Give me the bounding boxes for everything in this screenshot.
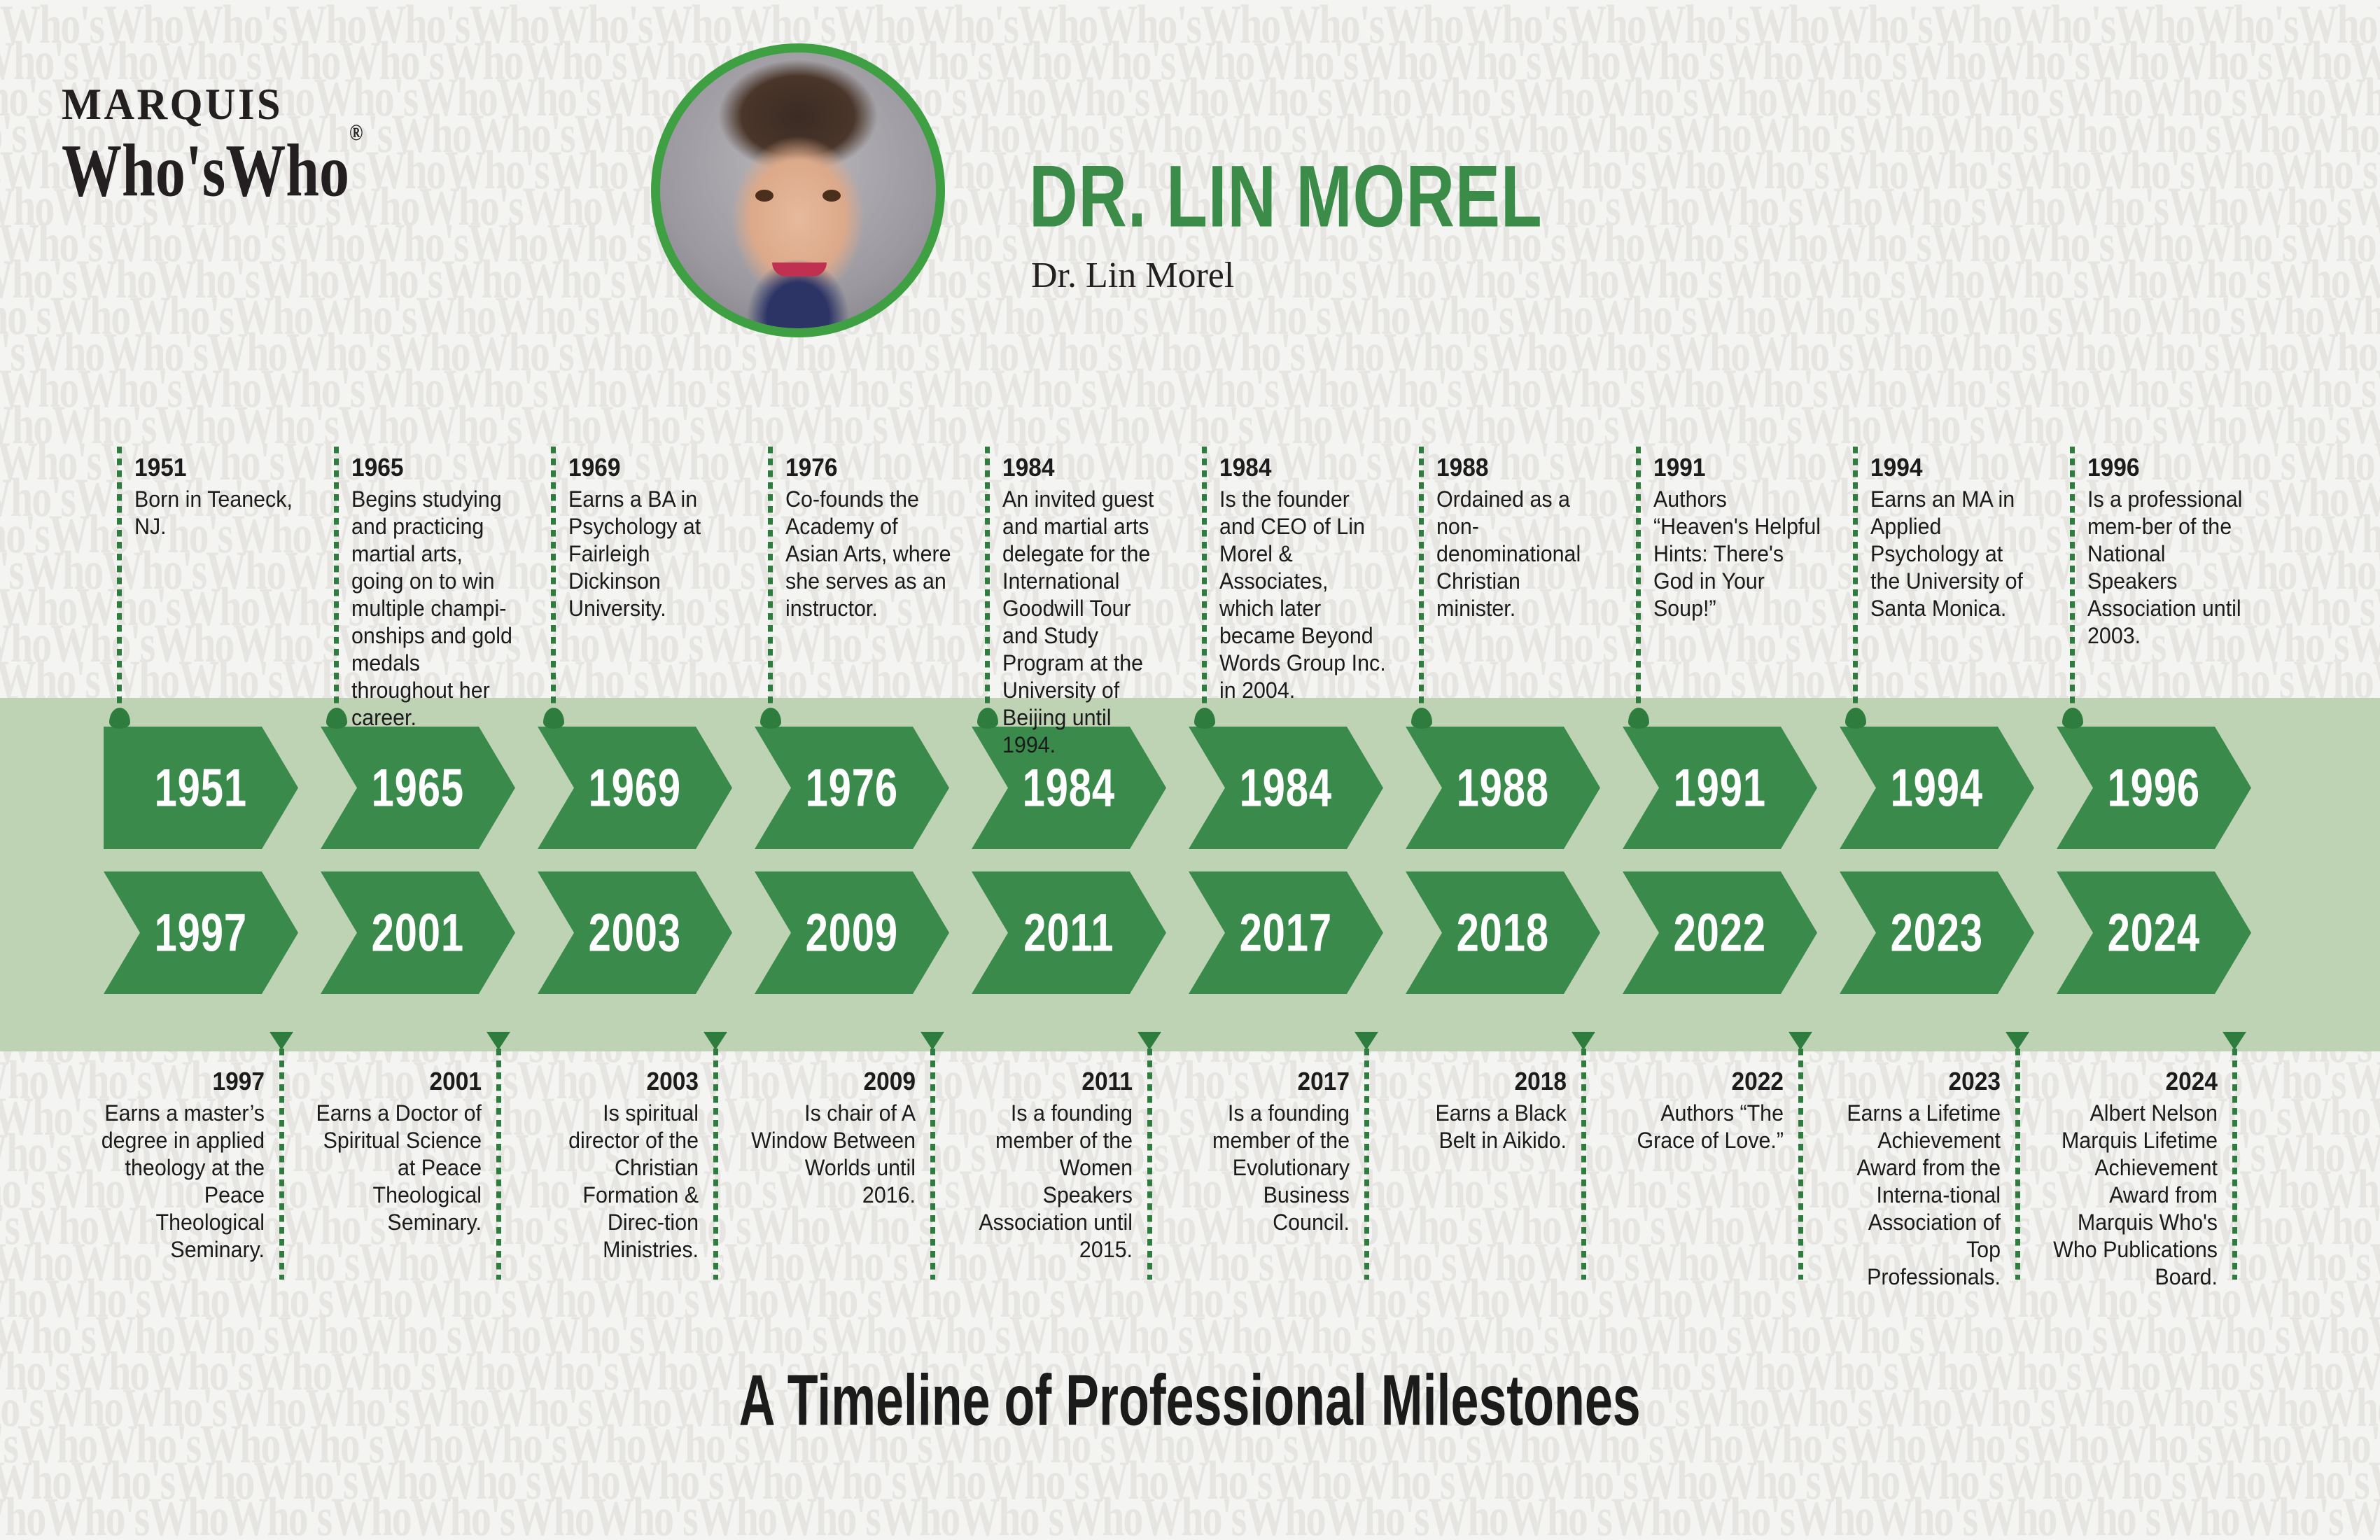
chevron-year-label: 1984 xyxy=(1023,762,1115,815)
milestone-2011-bottom: 2011Is a founding member of the Women Sp… xyxy=(956,1067,1133,1263)
chevron-year-label: 1991 xyxy=(1674,762,1766,815)
chevron-year-label: 1994 xyxy=(1891,762,1983,815)
milestone-year: 1997 xyxy=(101,1067,265,1095)
milestone-year: 2023 xyxy=(1837,1067,2001,1095)
connector-line-1988 xyxy=(1419,447,1424,717)
chevron-year-label: 1969 xyxy=(589,762,681,815)
connector-line-1994 xyxy=(1853,447,1858,717)
connector-line-2022 xyxy=(1798,1049,1803,1280)
connector-line-1976 xyxy=(768,447,773,717)
chevron-year-label: 2022 xyxy=(1674,906,1766,960)
milestone-1994-top: 1994Earns an MA in Applied Psychology at… xyxy=(1870,454,2047,622)
connector-arrow-2018 xyxy=(1571,1032,1595,1050)
milestone-1984-top: 1984Is the founder and CEO of Lin Morel … xyxy=(1219,454,1396,704)
chevron-year-label: 2023 xyxy=(1891,906,1983,960)
portrait-eye-right xyxy=(822,190,841,202)
connector-arrow-2023 xyxy=(2005,1032,2029,1050)
milestone-2024-bottom: 2024Albert Nelson Marquis Lifetime Achie… xyxy=(2041,1067,2218,1291)
connector-arrow-2001 xyxy=(486,1032,510,1050)
milestone-year: 2001 xyxy=(318,1067,482,1095)
connector-arrow-2024 xyxy=(2222,1032,2246,1050)
logo-line-whoswho: Who'sWho® xyxy=(62,126,363,207)
logo-line-marquis: MARQUIS xyxy=(62,83,399,125)
marquis-whoswho-logo: MARQUIS Who'sWho® xyxy=(62,83,363,191)
connector-line-2017 xyxy=(1364,1049,1369,1280)
milestone-text: Albert Nelson Marquis Lifetime Achieveme… xyxy=(2050,1100,2218,1291)
milestone-1969-top: 1969Earns a BA in Psychology at Fairleig… xyxy=(568,454,745,622)
milestone-text: Is chair of A Window Between Worlds unti… xyxy=(748,1100,916,1209)
milestone-text: Is spiritual director of the Christian F… xyxy=(531,1100,699,1263)
connector-arrow-2022 xyxy=(1788,1032,1812,1050)
milestone-text: Earns a BA in Psychology at Fairleigh Di… xyxy=(568,486,736,622)
milestone-year: 1994 xyxy=(1870,454,2034,482)
connector-line-2024 xyxy=(2232,1049,2237,1280)
connector-arrow-2003 xyxy=(703,1032,727,1050)
connector-line-2003 xyxy=(713,1049,718,1280)
milestone-year: 1988 xyxy=(1436,454,1600,482)
connector-line-1984 xyxy=(1202,447,1207,717)
milestone-year: 1976 xyxy=(785,454,949,482)
chevron-year-label: 1965 xyxy=(372,762,464,815)
registered-trademark-icon: ® xyxy=(349,120,363,145)
milestone-text: Authors “Heaven's Helpful Hints: There's… xyxy=(1653,486,1821,622)
portrait-mouth xyxy=(772,262,827,276)
connector-line-1951 xyxy=(117,447,122,717)
connector-line-2023 xyxy=(2015,1049,2020,1280)
chevron-year-label: 1951 xyxy=(155,762,247,815)
milestone-year: 2009 xyxy=(752,1067,916,1095)
connector-line-2018 xyxy=(1581,1049,1586,1280)
milestone-text: Earns an MA in Applied Psychology at the… xyxy=(1870,486,2038,622)
milestone-text: An invited guest and martial arts delega… xyxy=(1002,486,1170,759)
milestone-text: Earns a master’s degree in applied theol… xyxy=(97,1100,265,1263)
milestone-2023-bottom: 2023Earns a Lifetime Achievement Award f… xyxy=(1824,1067,2001,1291)
milestone-1965-top: 1965Begins studying and practicing marti… xyxy=(351,454,528,731)
milestone-year: 2011 xyxy=(969,1067,1133,1095)
milestone-text: Ordained as a non-denominational Christi… xyxy=(1436,486,1604,622)
footer-caption-text: A Timeline of Professional Milestones xyxy=(739,1364,1641,1436)
milestone-2001-bottom: 2001Earns a Doctor of Spiritual Science … xyxy=(305,1067,482,1236)
milestone-text: Born in Teaneck, NJ. xyxy=(134,486,302,540)
connector-line-1984 xyxy=(985,447,990,717)
milestone-year: 2022 xyxy=(1620,1067,1784,1095)
chevron-year-label: 1996 xyxy=(2108,762,2200,815)
milestone-year: 2024 xyxy=(2054,1067,2218,1095)
milestone-1951-top: 1951Born in Teaneck, NJ. xyxy=(134,454,311,540)
milestone-year: 1991 xyxy=(1653,454,1817,482)
connector-line-1969 xyxy=(551,447,556,717)
timeline-chevron-1951[interactable]: 1951 xyxy=(104,727,298,849)
milestone-text: Begins studying and practicing martial a… xyxy=(351,486,519,731)
connector-arrow-1997 xyxy=(269,1032,293,1050)
milestone-1976-top: 1976Co-founds the Academy of Asian Arts,… xyxy=(785,454,962,622)
milestone-1984-top: 1984An invited guest and martial arts de… xyxy=(1002,454,1179,759)
milestone-1997-bottom: 1997Earns a master’s degree in applied t… xyxy=(88,1067,265,1263)
footer-caption: A Timeline of Professional Milestones xyxy=(0,1368,2380,1433)
connector-arrow-2011 xyxy=(1137,1032,1161,1050)
chevron-year-label: 2024 xyxy=(2108,906,2200,960)
chevron-year-label: 2003 xyxy=(589,906,681,960)
connector-line-1997 xyxy=(279,1049,284,1280)
chevron-year-label: 2001 xyxy=(372,906,464,960)
chevron-year-label: 1997 xyxy=(155,906,247,960)
milestone-year: 1965 xyxy=(351,454,515,482)
chevron-year-label: 1984 xyxy=(1240,762,1332,815)
milestone-2009-bottom: 2009Is chair of A Window Between Worlds … xyxy=(739,1067,916,1209)
milestone-text: Earns a Black Belt in Aikido. xyxy=(1399,1100,1567,1154)
connector-line-1991 xyxy=(1636,447,1641,717)
connector-arrow-2017 xyxy=(1354,1032,1378,1050)
milestone-text: Earns a Doctor of Spiritual Science at P… xyxy=(314,1100,482,1236)
connector-arrow-2009 xyxy=(920,1032,944,1050)
connector-line-2001 xyxy=(496,1049,501,1280)
milestone-year: 2017 xyxy=(1186,1067,1350,1095)
milestone-year: 2003 xyxy=(535,1067,699,1095)
milestone-text: Is a professional mem-ber of the Nationa… xyxy=(2087,486,2255,650)
milestone-text: Is a founding member of the Evolutionary… xyxy=(1182,1100,1350,1236)
chevron-year-label: 2017 xyxy=(1240,906,1332,960)
milestone-year: 1984 xyxy=(1002,454,1166,482)
logo-whoswho-text: Who'sWho xyxy=(62,128,349,212)
connector-line-1996 xyxy=(2070,447,2075,717)
avatar xyxy=(651,43,945,337)
milestone-text: Authors “The Grace of Love.” xyxy=(1616,1100,1784,1154)
milestone-year: 1969 xyxy=(568,454,732,482)
milestone-text: Is a founding member of the Women Speake… xyxy=(965,1100,1133,1263)
chevron-year-label: 1988 xyxy=(1457,762,1549,815)
milestone-2017-bottom: 2017Is a founding member of the Evolutio… xyxy=(1173,1067,1350,1236)
chevron-year-label: 2011 xyxy=(1023,906,1114,960)
milestone-text: Earns a Lifetime Achievement Award from … xyxy=(1833,1100,2001,1291)
milestone-2022-bottom: 2022Authors “The Grace of Love.” xyxy=(1607,1067,1784,1154)
milestone-text: Is the founder and CEO of Lin Morel & As… xyxy=(1219,486,1387,704)
portrait-photo xyxy=(660,52,936,328)
milestone-text: Co-founds the Academy of Asian Arts, whe… xyxy=(785,486,953,622)
milestone-year: 1996 xyxy=(2087,454,2251,482)
connector-line-2011 xyxy=(1147,1049,1152,1280)
milestone-2018-bottom: 2018Earns a Black Belt in Aikido. xyxy=(1390,1067,1567,1154)
page-subtitle: Dr. Lin Morel xyxy=(1031,258,1234,294)
milestone-2003-bottom: 2003Is spiritual director of the Christi… xyxy=(522,1067,699,1263)
chevron-year-label: 1976 xyxy=(806,762,898,815)
milestone-1991-top: 1991Authors “Heaven's Helpful Hints: The… xyxy=(1653,454,1830,622)
portrait-eye-left xyxy=(755,190,773,202)
chevron-year-label: 2009 xyxy=(806,906,898,960)
milestone-year: 1984 xyxy=(1219,454,1383,482)
milestone-year: 1951 xyxy=(134,454,298,482)
milestone-1996-top: 1996Is a professional mem-ber of the Nat… xyxy=(2087,454,2264,650)
connector-line-1965 xyxy=(334,447,339,717)
chevron-year-label: 2018 xyxy=(1457,906,1549,960)
page-title: DR. LIN MOREL xyxy=(1029,153,1543,240)
milestone-1988-top: 1988Ordained as a non-denominational Chr… xyxy=(1436,454,1613,622)
connector-line-2009 xyxy=(930,1049,935,1280)
milestone-year: 2018 xyxy=(1403,1067,1567,1095)
